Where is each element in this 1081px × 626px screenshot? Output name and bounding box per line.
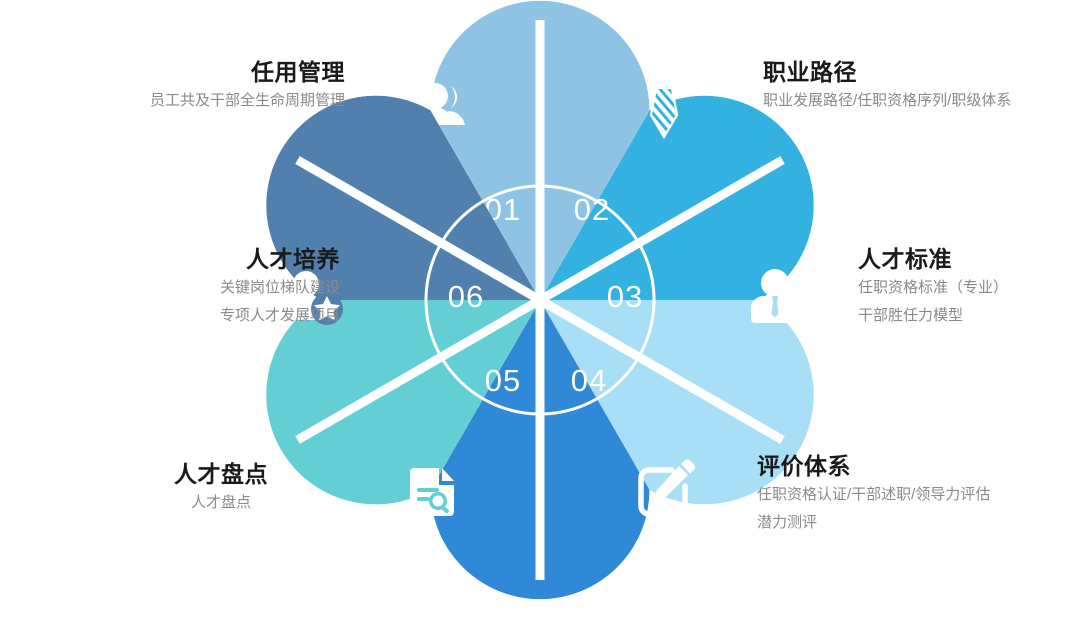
- label-block-03[interactable]: 人才标准 任职资格标准（专业） 干部胜任力模型: [858, 245, 1073, 329]
- label-title-01: 任用管理: [20, 58, 345, 87]
- infographic-canvas: 01 02 03: [0, 0, 1081, 626]
- label-block-02[interactable]: 职业路径 职业发展路径/任职资格序列/职级体系: [763, 58, 1073, 115]
- label-sub-03-line-1: 任职资格标准（专业）: [858, 274, 1073, 302]
- label-sub-04-line-1: 任职资格认证/干部述职/领导力评估: [757, 481, 1077, 509]
- label-sub-06-line-1: 关键岗位梯队建设: [20, 274, 340, 302]
- label-sub-05-line-1: 人才盘点: [110, 489, 332, 517]
- label-block-05[interactable]: 人才盘点 人才盘点: [110, 460, 332, 517]
- label-sub-01-line-1: 员工共及干部全生命周期管理: [20, 87, 345, 115]
- label-sub-03-line-2: 干部胜任力模型: [858, 302, 1073, 330]
- label-title-05: 人才盘点: [110, 460, 332, 489]
- label-sub-06-line-2: 专项人才发展项目: [20, 302, 340, 330]
- label-title-02: 职业路径: [763, 58, 1073, 87]
- label-block-04[interactable]: 评价体系 任职资格认证/干部述职/领导力评估 潜力测评: [757, 452, 1077, 536]
- label-block-01[interactable]: 任用管理 员工共及干部全生命周期管理: [20, 58, 345, 115]
- petal-06-number: 06: [448, 279, 484, 314]
- label-sub-02-line-1: 职业发展路径/任职资格序列/职级体系: [763, 87, 1073, 115]
- label-title-06: 人才培养: [20, 245, 340, 274]
- document-search-icon: [410, 468, 454, 516]
- petal-03-number: 03: [607, 279, 643, 314]
- petal-04-number: 04: [571, 363, 607, 398]
- label-title-04: 评价体系: [757, 452, 1077, 481]
- label-sub-04-line-2: 潜力测评: [757, 509, 1077, 537]
- petal-05-number: 05: [485, 363, 521, 398]
- label-block-06[interactable]: 人才培养 关键岗位梯队建设 专项人才发展项目: [20, 245, 340, 329]
- label-title-03: 人才标准: [858, 245, 1073, 274]
